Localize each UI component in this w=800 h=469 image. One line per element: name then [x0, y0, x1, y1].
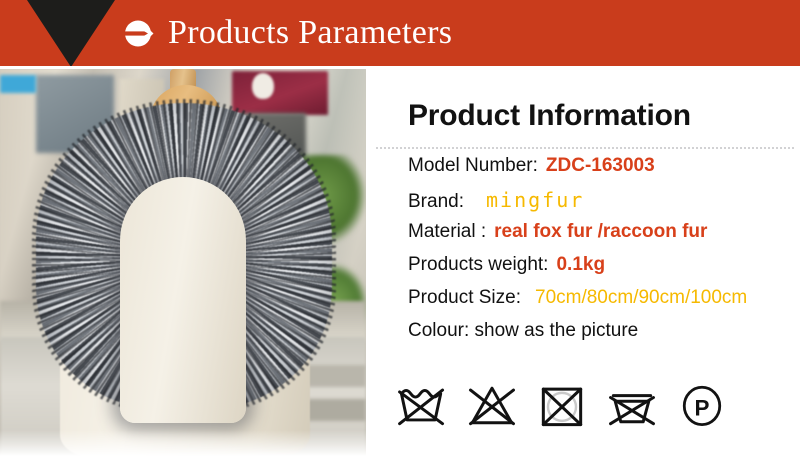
- product-information-heading: Product Information: [408, 99, 691, 133]
- header-bar: Products Parameters: [0, 0, 800, 66]
- product-parameters-banner: Products Parameters Product Information: [0, 0, 800, 469]
- spec-label: Products weight:: [408, 254, 548, 276]
- background-blue-sign: [0, 75, 36, 93]
- product-information-panel: Product Information Model Number: ZDC-16…: [376, 69, 800, 469]
- product-photo: [0, 69, 366, 456]
- spec-value: mingfur: [486, 188, 584, 212]
- fur-collar-opening: [120, 177, 246, 423]
- fur-collar: [36, 103, 332, 409]
- do-not-bleach-icon: [464, 377, 520, 433]
- arrow-right-circle-icon: [124, 19, 154, 48]
- dry-clean-letter: P: [695, 395, 710, 420]
- care-symbols-row: P: [394, 377, 734, 433]
- header-triangle-decoration: [27, 0, 115, 66]
- spec-row-model-number: Model Number: ZDC-163003: [408, 155, 798, 188]
- do-not-wash-icon: [394, 377, 450, 433]
- do-not-tumble-dry-icon: [534, 377, 590, 433]
- spec-label: Product Size:: [408, 287, 521, 309]
- spec-value: real fox fur /raccoon fur: [494, 221, 707, 243]
- spec-label: Colour: show as the picture: [408, 320, 638, 342]
- spec-row-product-size: Product Size: 70cm/80cm/90cm/100cm: [408, 287, 798, 320]
- spec-row-material: Material : real fox fur /raccoon fur: [408, 221, 798, 254]
- spec-row-brand: Brand: mingfur: [408, 188, 798, 221]
- spec-row-colour: Colour: show as the picture: [408, 320, 798, 353]
- photo-bottom-fade: [0, 430, 366, 456]
- spec-value: 70cm/80cm/90cm/100cm: [535, 287, 747, 309]
- background-sign-mark: [252, 73, 274, 99]
- heading-divider: [376, 147, 794, 149]
- do-not-iron-icon: [604, 377, 660, 433]
- spec-value: 0.1kg: [556, 254, 605, 276]
- header-title: Products Parameters: [168, 10, 452, 56]
- spec-label: Material :: [408, 221, 486, 243]
- spec-value: ZDC-163003: [546, 155, 655, 177]
- dry-clean-p-icon: P: [674, 377, 730, 433]
- spec-label: Brand:: [408, 191, 464, 213]
- spec-row-products-weight: Products weight: 0.1kg: [408, 254, 798, 287]
- spec-label: Model Number:: [408, 155, 538, 177]
- spec-list: Model Number: ZDC-163003 Brand: mingfur …: [408, 155, 798, 353]
